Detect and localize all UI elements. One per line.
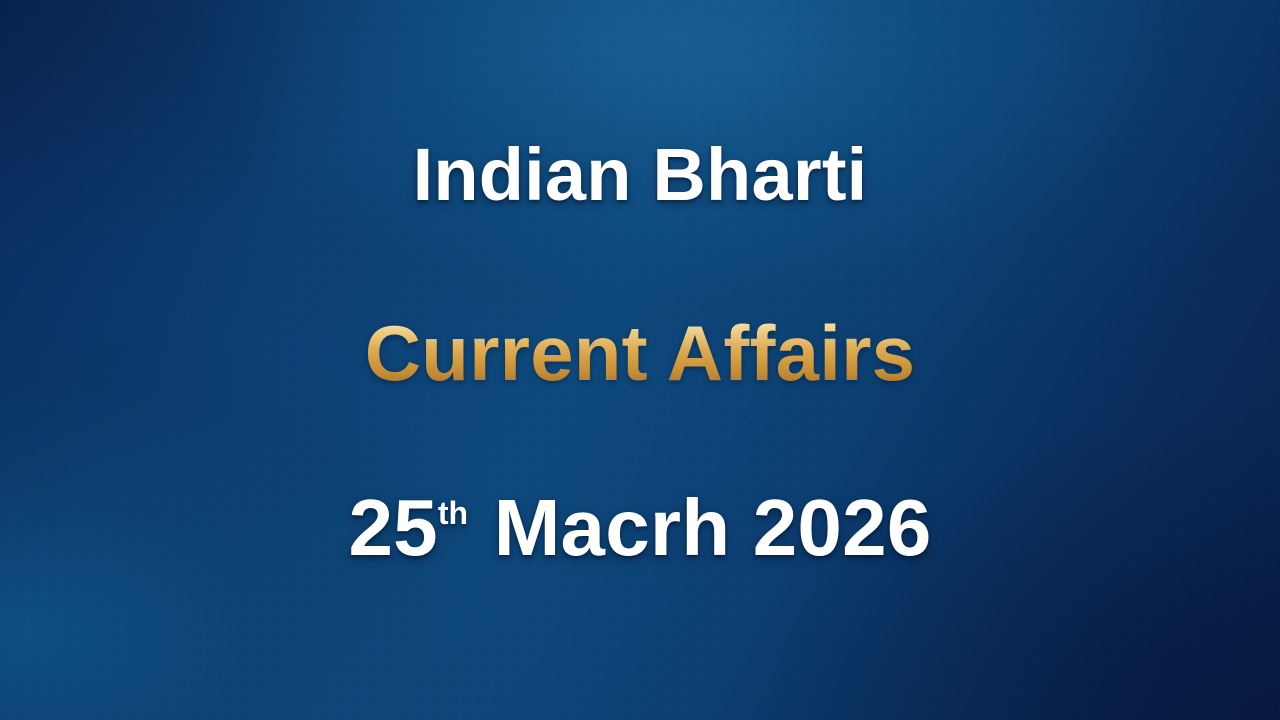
poster-title: Indian Bharti: [0, 138, 1280, 212]
poster-subtitle: Current Affairs: [0, 314, 1280, 392]
date-day-number: 25: [348, 483, 437, 572]
date-ordinal-suffix: th: [438, 495, 468, 531]
poster-text-stack: Indian Bharti Current Affairs 25th Macrh…: [0, 0, 1280, 720]
date-month-year: Macrh 2026: [471, 483, 931, 572]
current-affairs-poster: Indian Bharti Current Affairs 25th Macrh…: [0, 0, 1280, 720]
poster-date: 25th Macrh 2026: [0, 488, 1280, 568]
